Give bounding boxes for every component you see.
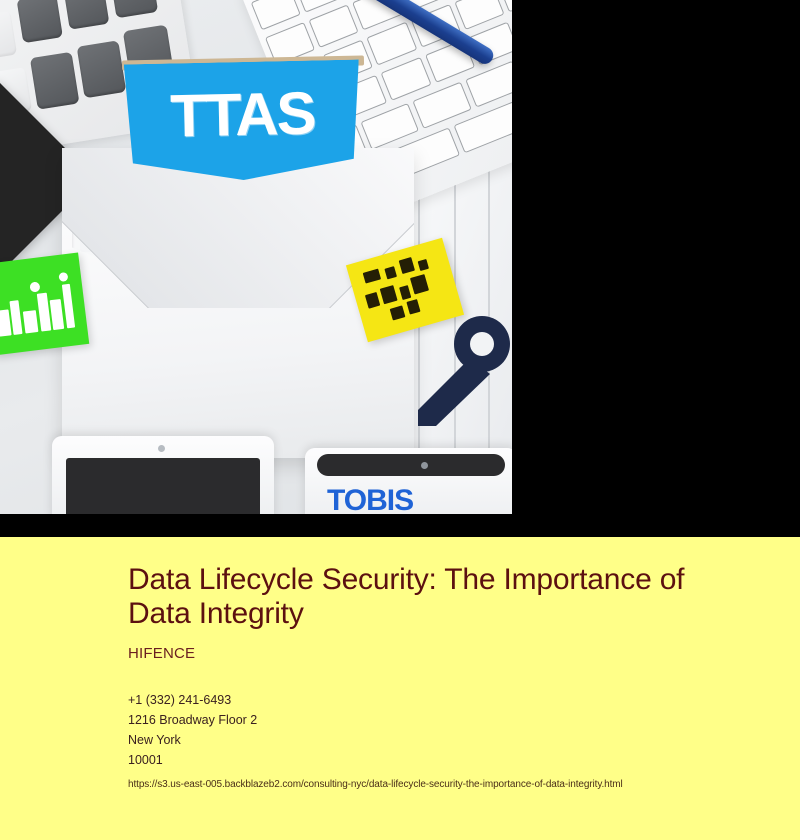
letterbox-bottom: [0, 514, 800, 537]
tablet-right: TOBIS: [305, 448, 512, 514]
security-key-icon: [408, 312, 512, 432]
letterbox-right: [512, 0, 800, 514]
hero-image: ьь ні WłeqMOiyřıŕı Řєıсші TTAS: [0, 0, 512, 514]
contact-block: +1 (332) 241-6493 1216 Broadway Floor 2 …: [128, 690, 760, 770]
info-card: Data Lifecycle Security: The Importance …: [0, 537, 800, 840]
contact-phone: +1 (332) 241-6493: [128, 690, 760, 710]
contact-address: 1216 Broadway Floor 2: [128, 710, 760, 730]
page-root: ьь ні WłeqMOiyřıŕı Řєıсші TTAS: [0, 0, 800, 840]
tablet-label: TOBIS: [327, 484, 413, 514]
ttas-logo-banner: TTAS: [124, 60, 361, 183]
brand-name: HIFENCE: [128, 645, 760, 662]
page-title: Data Lifecycle Security: The Importance …: [128, 563, 718, 631]
contact-zip: 10001: [128, 750, 760, 770]
green-sticky-note: [0, 252, 89, 355]
tablet-left: [52, 436, 274, 514]
source-url[interactable]: https://s3.us-east-005.backblazeb2.com/c…: [128, 779, 760, 790]
ttas-logo-text: TTAS: [170, 78, 316, 150]
contact-city: New York: [128, 730, 760, 750]
